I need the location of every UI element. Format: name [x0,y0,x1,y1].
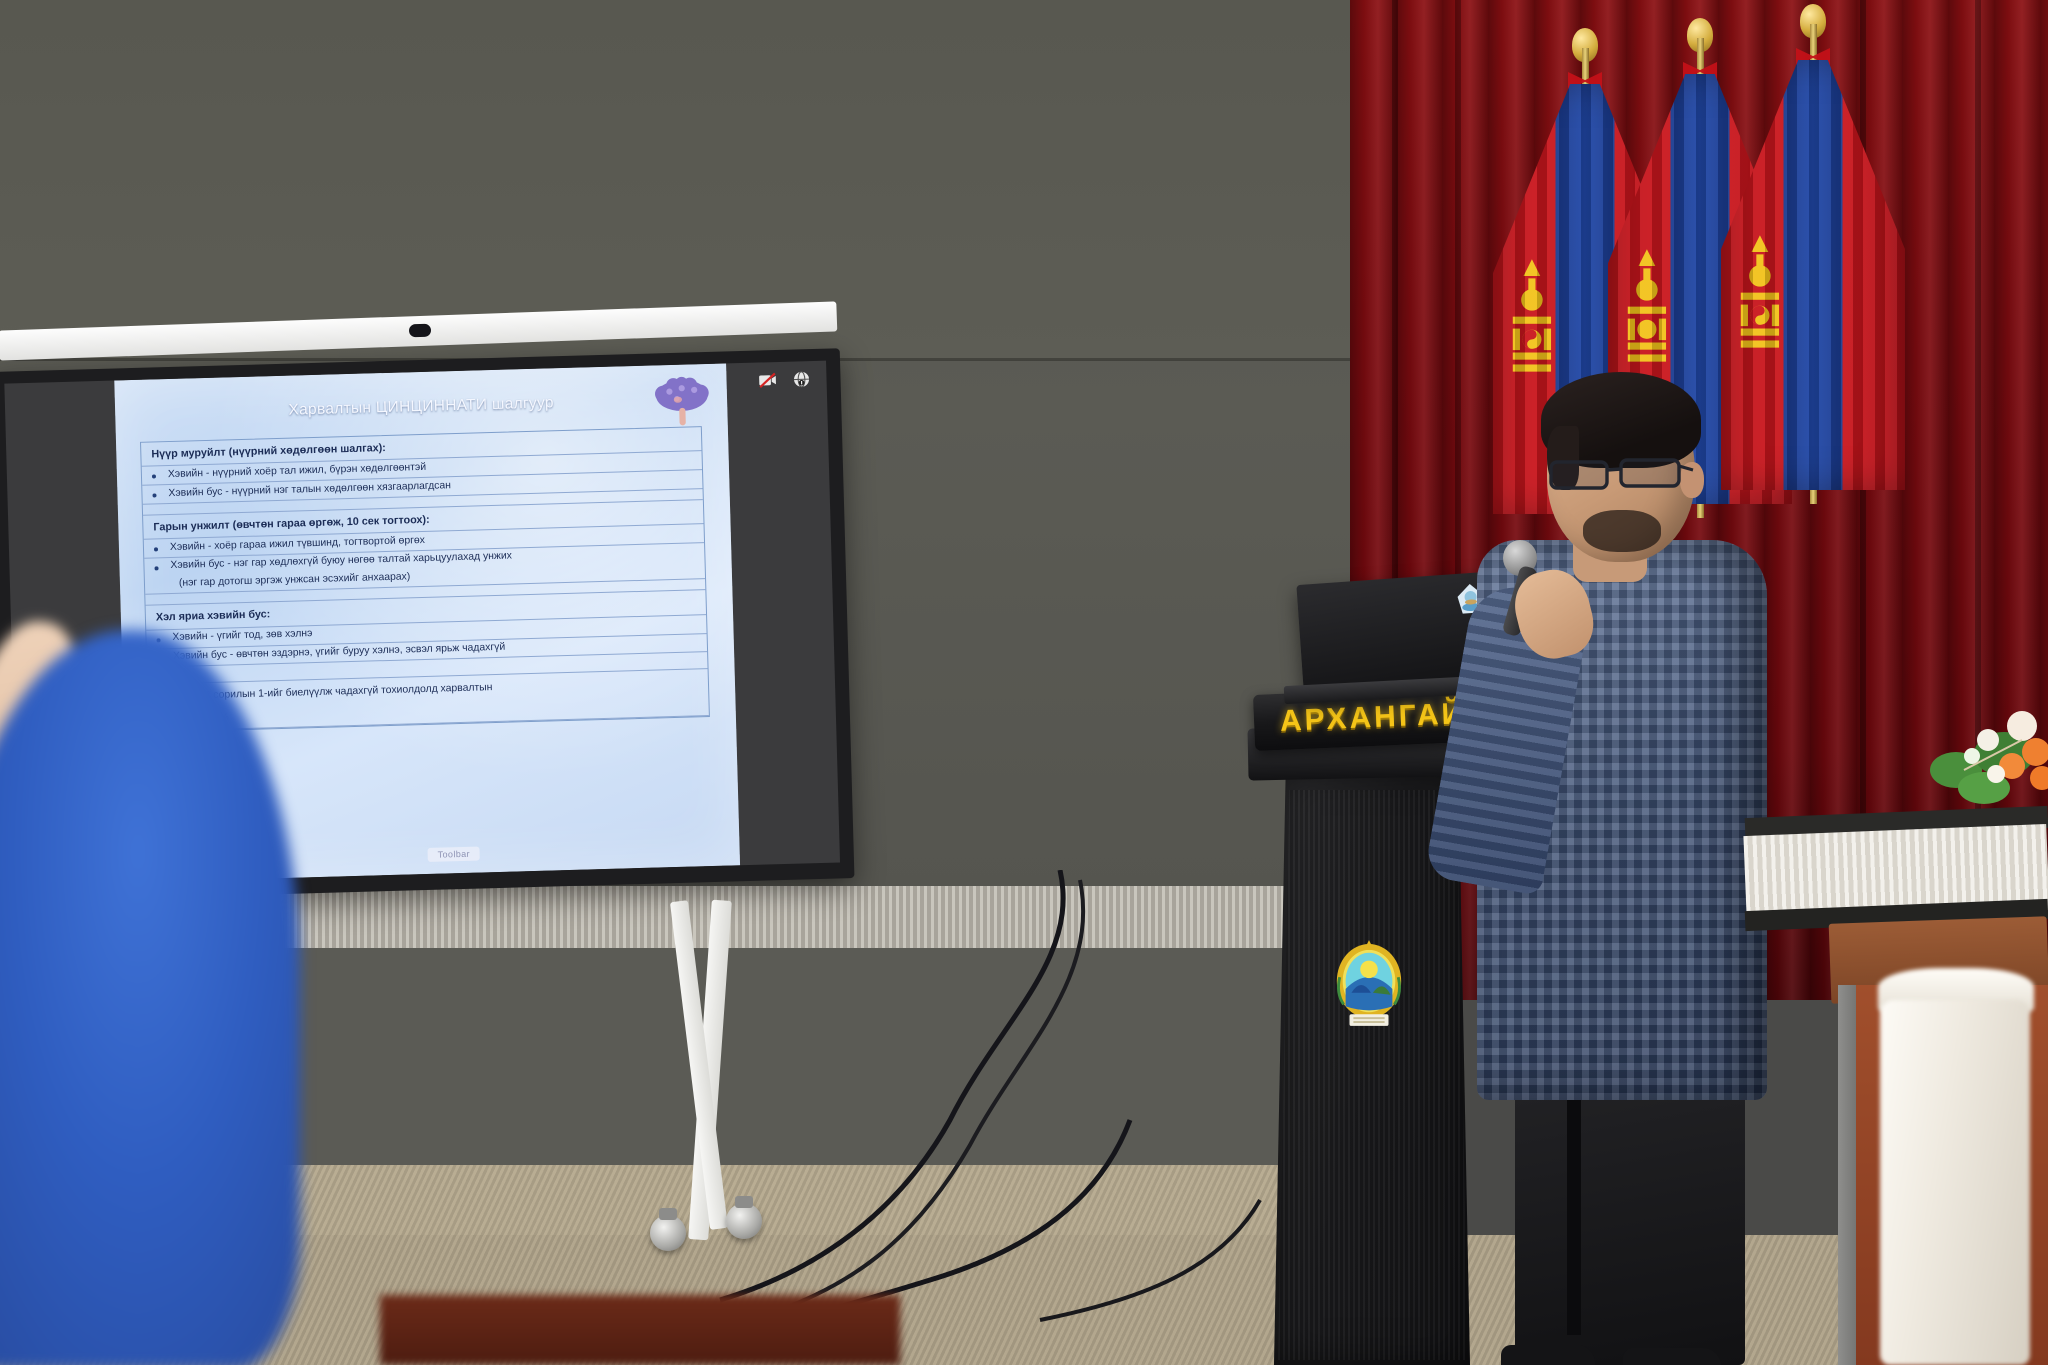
audience-member-foreground [0,630,300,1365]
presentation-room-photo: Харвалтын ЦИНЦИННАТИ шалгуур Нүүр муруйл… [0,0,2048,1365]
presenter-shoe-right [1623,1348,1721,1365]
arkhangai-coat-of-arms-icon [1330,938,1408,1030]
presenter-trousers [1515,1060,1745,1365]
network-globe-icon[interactable] [790,369,813,390]
stand-caster-left [650,1215,686,1251]
foreground-red-object [380,1295,900,1365]
presenter-beard [1583,510,1661,552]
presenter-shoe-left [1501,1345,1595,1365]
white-vase [1880,1000,2030,1365]
eyeglasses-icon [1549,456,1695,490]
presenter [1455,370,1785,1365]
display-camera-icon [409,324,431,338]
trouser-seam [1567,1090,1581,1335]
camera-off-icon[interactable] [756,370,779,391]
toolbar-chip[interactable]: Toolbar [427,847,480,862]
flower-bouquet [1926,700,2048,830]
slide-title: Харвалтын ЦИНЦИННАТИ шалгуур [115,389,727,424]
podium-nameplate-text: АРХАНГАЙ [1279,697,1466,739]
podium-ridges [1278,790,1468,1360]
soyombo-icon [1736,215,1784,387]
display-status-icons[interactable] [756,369,813,391]
